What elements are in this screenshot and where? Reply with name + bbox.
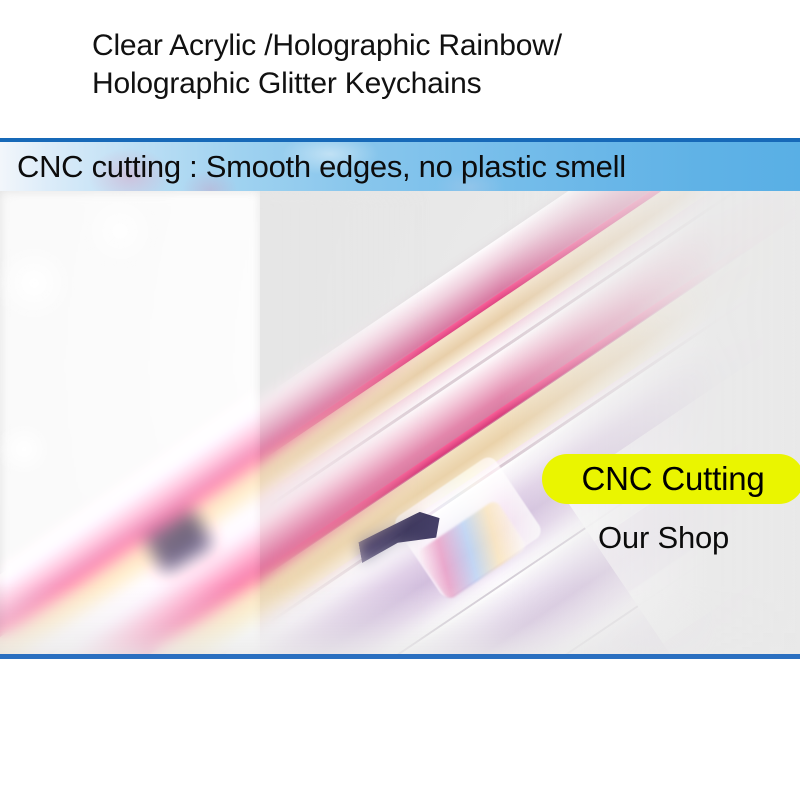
feature-banner-text: CNC cutting : Smooth edges, no plastic s… bbox=[17, 150, 626, 184]
footer-whitespace bbox=[0, 659, 800, 800]
feature-banner: CNC cutting : Smooth edges, no plastic s… bbox=[0, 138, 800, 191]
product-photo: CNC Cutting Our Shop Laser Cutting Other… bbox=[0, 191, 800, 654]
page-title: Clear Acrylic /Holographic Rainbow/ Holo… bbox=[92, 27, 752, 103]
title-block: Clear Acrylic /Holographic Rainbow/ Holo… bbox=[0, 0, 800, 138]
callout-badge-cnc-cutting: CNC Cutting bbox=[542, 454, 800, 504]
callout-sublabel-our-shop: Our Shop bbox=[598, 520, 729, 556]
